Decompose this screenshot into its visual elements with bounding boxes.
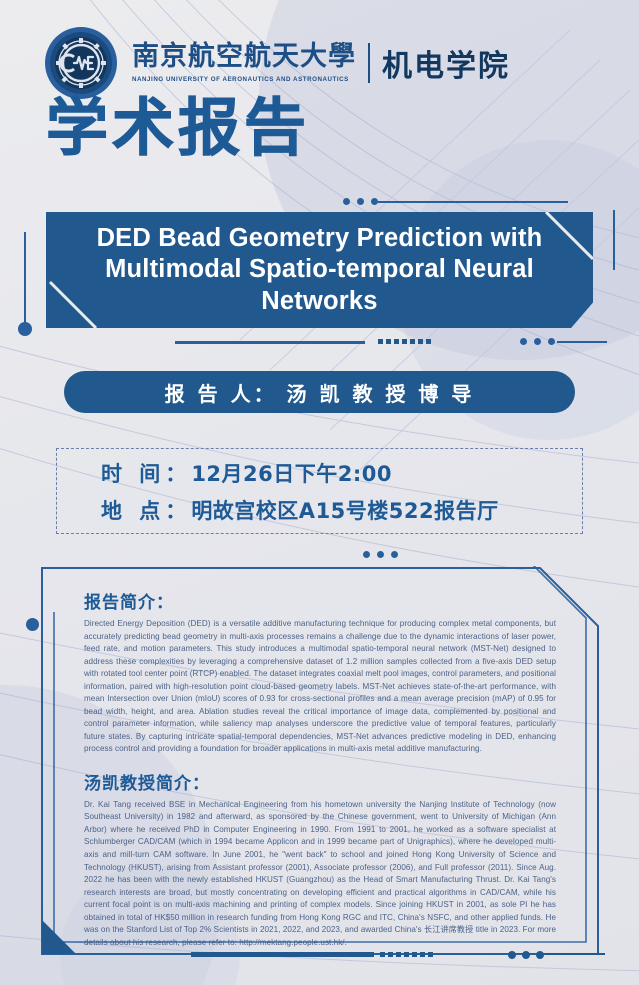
decor-right-node [613,210,615,270]
university-name-en: NANJING UNIVERSITY OF AERONAUTICS AND AS… [132,76,356,83]
footer-dashes [380,952,433,957]
decor-rule-mid-right [557,341,607,343]
header-divider [368,43,370,83]
event-time-row: 时 间：12月26日下午2:00 [101,458,582,488]
page-title: 学术报告 [46,97,310,159]
event-time-value: 12月26日下午2:00 [191,462,392,486]
university-identity: 南京航空航天大學 NANJING UNIVERSITY OF AERONAUTI… [132,41,510,85]
decor-dash-mid [378,339,431,344]
decor-dots-mid [520,338,555,345]
decor-rule-top [378,201,568,203]
panel-corner-triangle [42,920,76,954]
decor-left-line [24,232,26,327]
event-info-box: 时 间：12月26日下午2:00 地 点：明故宫校区A15号楼522报告厅 [56,448,583,534]
bio-heading: 汤凯教授简介： [84,769,556,794]
content-panel: 报告简介： Directed Energy Deposition (DED) i… [40,566,600,956]
panel-corner-node [26,618,39,631]
event-time-label: 时 间： [101,462,191,486]
decor-dots-panel [363,551,398,558]
event-place-label: 地 点： [101,499,191,523]
footer-rule [545,953,605,955]
speaker-bar: 报 告 人： 汤 凯 教 授 博 导 [64,371,575,413]
panel-content: 报告简介： Directed Energy Deposition (DED) i… [84,588,556,949]
university-name-cn: 南京航空航天大學 [132,43,356,71]
footer-dots [508,951,544,959]
event-place-row: 地 点：明故宫校区A15号楼522报告厅 [101,495,582,525]
section-gap [84,756,556,769]
college-name: 机电学院 [382,41,510,85]
bio-body: Dr. Kai Tang received BSE in Mechanical … [84,799,556,949]
decor-rule-mid [175,341,365,344]
poster-canvas: 南京航空航天大學 NANJING UNIVERSITY OF AERONAUTI… [0,0,639,985]
decor-dots-top [343,198,378,205]
footer-bar [191,952,374,957]
header: 南京航空航天大學 NANJING UNIVERSITY OF AERONAUTI… [44,26,510,100]
event-place-value: 明故宫校区A15号楼522报告厅 [191,499,498,523]
nuaa-seal-logo [44,26,118,100]
decor-left-node-dot [18,322,32,336]
title-band-slash-decor [46,212,593,328]
speaker-name: 报 告 人： 汤 凯 教 授 博 导 [165,378,475,407]
abstract-body: Directed Energy Deposition (DED) is a ve… [84,618,556,756]
abstract-heading: 报告简介： [84,588,556,613]
